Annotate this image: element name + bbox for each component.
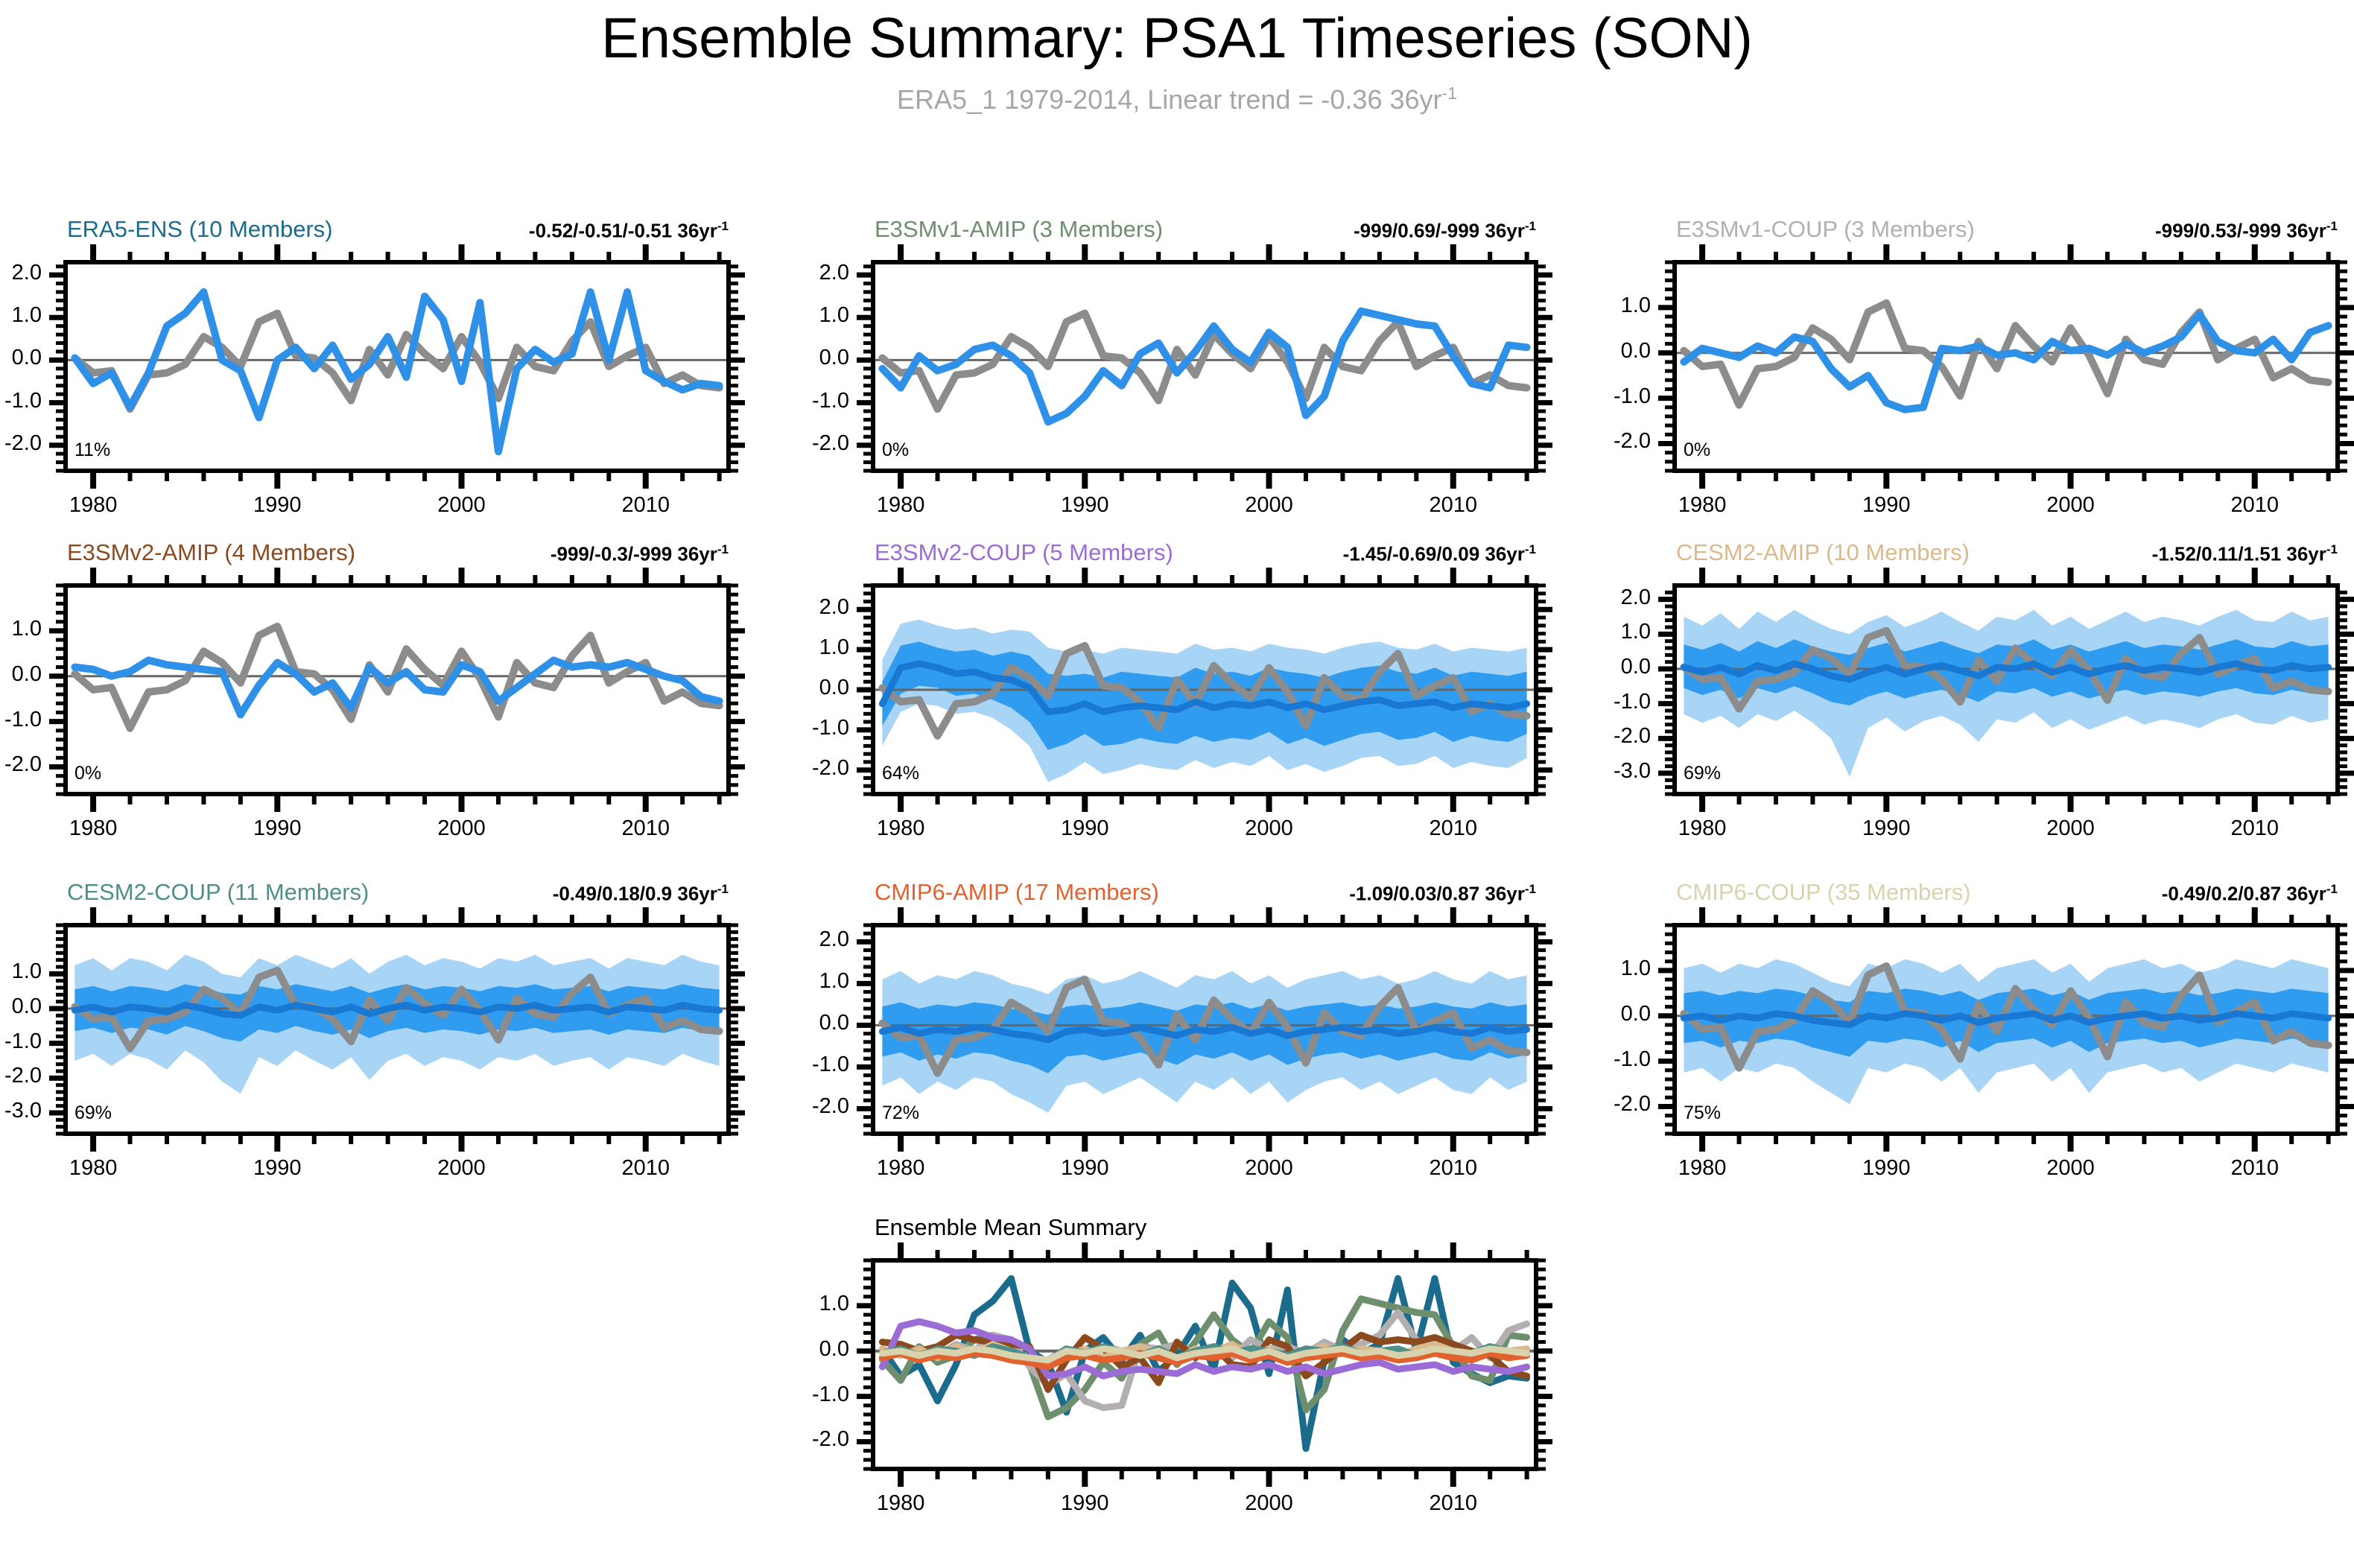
x-axis-label: 2000 [410,493,514,518]
plot-frame [873,1260,1536,1469]
panel-title-cesm2-coup: CESM2-COUP (11 Members) [67,879,369,906]
trend-value: -0.49/0.2/0.87 36yr [2162,883,2326,905]
plot-frame [66,262,729,471]
percent-annotation-cesm2-coup: 69% [74,1102,112,1124]
panel-trend-cmip6-amip: -1.09/0.03/0.87 36yr-1 [1119,882,1536,906]
y-axis-label: 2.0 [0,261,42,285]
plot-svg-cmip6-coup [0,0,2354,1568]
y-axis-label: -3.0 [0,1099,42,1123]
y-axis-label: 1.0 [754,303,849,328]
series-group-cesm2-coup [66,955,729,1094]
trend-superscript: -1 [1525,219,1536,233]
plot-svg-e3smv1-amip [0,0,2354,1568]
y-axis-label: -2.0 [1555,429,1651,454]
y-axis-label: -1.0 [1555,690,1651,714]
summary-line-e3smv1-amip [882,1299,1526,1417]
x-axis-label: 2000 [2019,493,2123,518]
ensemble-mean-line [74,1005,719,1015]
y-axis-label: 0.0 [754,1011,849,1035]
plot-frame [66,585,729,794]
y-axis-label: -2.0 [754,431,849,456]
y-axis-label: 0.0 [1555,655,1651,679]
y-axis-label: -1.0 [1555,1047,1651,1072]
x-axis-label: 1990 [1032,1156,1137,1181]
y-axis-label: 2.0 [754,927,849,952]
series-group-summary [873,1278,1536,1448]
x-axis-label: 2010 [1401,493,1506,518]
y-axis-label: 1.0 [0,959,42,984]
panel-era5-ens: ERA5-ENS (10 Members)-0.52/-0.51/-0.51 3… [0,0,2354,1568]
plot-frame [873,262,1536,471]
obs-line [74,626,719,729]
x-axis-label: 1990 [1834,493,1938,518]
y-axis-label: 1.0 [754,969,849,994]
x-axis-label: 1990 [1032,493,1137,518]
y-axis-label: -2.0 [754,1094,849,1119]
x-axis-label: 1980 [41,816,145,841]
y-axis-label: 1.0 [0,617,42,641]
panel-title-e3smv2-coup: E3SMv2-COUP (5 Members) [875,539,1173,566]
y-axis-label: 0.0 [754,1337,849,1362]
x-axis-label: 2010 [594,493,698,518]
obs-line [1684,631,2328,709]
percent-annotation-cmip6-amip: 72% [882,1102,919,1124]
y-axis-label: 2.0 [754,595,849,620]
summary-line-era5-ens [882,1278,1526,1448]
panel-e3smv2-coup: E3SMv2-COUP (5 Members)-1.45/-0.69/0.09 … [0,0,2354,1568]
panel-trend-e3smv1-amip: -999/0.69/-999 36yr-1 [1119,219,1536,243]
summary-line-cesm2-amip [882,1345,1526,1365]
y-axis-label: 0.0 [754,676,849,700]
y-axis-label: 0.0 [754,346,849,370]
y-axis-label: 0.0 [0,662,42,687]
series-group-e3smv2-amip [66,626,729,729]
x-axis-label: 2010 [594,1156,698,1181]
trend-superscript: -1 [717,219,729,233]
plot-frame [1675,262,2338,471]
percent-annotation-e3smv1-coup: 0% [1684,439,1710,461]
y-axis-label: -2.0 [1555,724,1651,749]
panel-title-e3smv1-amip: E3SMv1-AMIP (3 Members) [875,216,1163,243]
plot-svg-e3smv2-amip [0,0,2354,1568]
x-axis-label: 1990 [225,1156,329,1181]
x-axis-label: 2000 [410,816,514,841]
percent-annotation-cesm2-amip: 69% [1684,763,1721,784]
panel-title-era5-ens: ERA5-ENS (10 Members) [67,216,333,243]
panel-title-e3smv2-amip: E3SMv2-AMIP (4 Members) [67,539,355,566]
figure-root: Ensemble Summary: PSA1 Timeseries (SON) … [0,0,2354,1568]
y-axis-label: -1.0 [0,708,42,732]
panel-cmip6-amip: CMIP6-AMIP (17 Members)-1.09/0.03/0.87 3… [0,0,2354,1568]
percent-annotation-e3smv2-coup: 64% [882,763,919,784]
panel-ensemble-mean-summary: Ensemble Mean Summary1.00.0-1.0-2.019801… [0,0,2354,1568]
panel-title-cesm2-amip: CESM2-AMIP (10 Members) [1676,539,1970,566]
panel-cesm2-coup: CESM2-COUP (11 Members)-0.49/0.18/0.9 36… [0,0,2354,1568]
trend-superscript: -1 [2326,542,2338,556]
y-axis-label: 0.0 [1555,339,1651,364]
y-axis-label: -2.0 [1555,1092,1651,1117]
plot-svg-era5-ens [0,0,2354,1568]
x-axis-label: 1990 [225,816,329,841]
x-axis-label: 2010 [1401,816,1506,841]
series-group-cesm2-amip [1675,610,2338,777]
y-axis-label: 1.0 [754,635,849,660]
x-axis-label: 1990 [1834,1156,1938,1181]
plot-frame [873,925,1536,1134]
obs-line [1684,303,2328,405]
percent-annotation-e3smv1-amip: 0% [882,439,909,461]
y-axis-label: 0.0 [0,994,42,1019]
x-axis-label: 2000 [1217,1491,1322,1516]
x-axis-label: 1990 [1834,816,1938,841]
plot-svg-e3smv2-coup [0,0,2354,1568]
series-group-cmip6-coup [1675,959,2338,1105]
summary-line-e3smv2-amip [882,1335,1526,1389]
panel-trend-e3smv2-amip: -999/-0.3/-999 36yr-1 [311,542,729,566]
ensemble-mean-line [882,664,1526,712]
trend-superscript: -1 [1525,542,1536,556]
x-axis-label: 1980 [41,1156,145,1181]
y-axis-label: 1.0 [1555,956,1651,981]
figure-subtitle: ERA5_1 1979-2014, Linear trend = -0.36 3… [0,83,2354,115]
y-axis-label: -1.0 [754,1053,849,1077]
panel-cesm2-amip: CESM2-AMIP (10 Members)-1.52/0.11/1.51 3… [0,0,2354,1568]
trend-value: -1.52/0.11/1.51 36yr [2152,543,2326,565]
trend-value: -999/0.53/-999 36yr [2155,220,2326,242]
obs-line [74,971,719,1049]
subtitle-superscript: -1 [1442,83,1457,103]
summary-line-e3smv1-coup [882,1313,1526,1408]
trend-superscript: -1 [2326,219,2338,233]
percent-annotation-e3smv2-amip: 0% [74,763,101,784]
trend-superscript: -1 [1525,882,1536,896]
y-axis-label: -1.0 [1555,384,1651,409]
summary-line-cmip6-amip [882,1353,1526,1367]
x-axis-label: 2000 [1217,493,1322,518]
panel-e3smv1-amip: E3SMv1-AMIP (3 Members)-999/0.69/-999 36… [0,0,2354,1568]
y-axis-label: 0.0 [0,346,42,370]
obs-line [882,314,1526,409]
series-group-era5-ens [66,292,729,451]
y-axis-label: -2.0 [754,1427,849,1452]
trend-superscript: -1 [2326,882,2338,896]
y-axis-label: 2.0 [1555,585,1651,610]
y-axis-label: -2.0 [0,752,42,777]
obs-line [882,646,1526,736]
y-axis-label: -1.0 [754,389,849,413]
y-axis-label: 1.0 [754,1292,849,1316]
obs-line [74,314,719,409]
y-axis-label: -2.0 [0,1064,42,1088]
x-axis-label: 2010 [1401,1491,1506,1516]
trend-value: -999/-0.3/-999 36yr [551,543,717,565]
series-group-e3smv2-coup [873,620,1536,782]
x-axis-label: 1990 [1032,1491,1137,1516]
ensemble-mean-line [1684,1014,2328,1025]
x-axis-label: 2000 [1217,1156,1322,1181]
panel-title-cmip6-coup: CMIP6-COUP (35 Members) [1676,879,1971,906]
x-axis-label: 1980 [848,493,953,518]
plot-svg-cmip6-amip [0,0,2354,1568]
y-axis-label: -1.0 [0,1029,42,1054]
plot-frame [1675,585,2338,794]
series-group-e3smv1-amip [873,311,1536,422]
y-axis-label: 2.0 [754,261,849,285]
x-axis-label: 2010 [594,816,698,841]
summary-line-cesm2-coup [882,1347,1526,1360]
x-axis-label: 1990 [1032,816,1137,841]
x-axis-label: 2010 [1401,1156,1506,1181]
x-axis-label: 2000 [1217,816,1322,841]
x-axis-label: 1990 [225,493,329,518]
panel-trend-e3smv1-coup: -999/0.53/-999 36yr-1 [1920,219,2338,243]
x-axis-label: 1980 [848,1156,953,1181]
obs-line [1684,966,2328,1068]
panel-trend-cmip6-coup: -0.49/0.2/0.87 36yr-1 [1920,882,2338,906]
ensemble-mean-line [74,292,719,451]
x-axis-label: 1980 [1650,493,1754,518]
y-axis-label: -3.0 [1555,759,1651,784]
x-axis-label: 2000 [2019,1156,2123,1181]
ensemble-mean-line [1684,664,2328,679]
x-axis-label: 1980 [848,1491,953,1516]
percent-annotation-era5-ens: 11% [74,439,110,461]
x-axis-label: 1980 [1650,816,1754,841]
plot-svg-e3smv1-coup [0,0,2354,1568]
panel-trend-era5-ens: -0.52/-0.51/-0.51 36yr-1 [311,219,729,243]
panel-title-cmip6-amip: CMIP6-AMIP (17 Members) [875,879,1159,906]
y-axis-label: 1.0 [1555,293,1651,318]
y-axis-label: 0.0 [1555,1002,1651,1026]
plot-frame [66,925,729,1134]
ensemble-mean-line [1684,314,2328,410]
figure-title: Ensemble Summary: PSA1 Timeseries (SON) [0,6,2354,71]
y-axis-label: -1.0 [754,716,849,740]
trend-value: -1.45/-0.69/0.09 36yr [1343,543,1525,565]
series-group-e3smv1-coup [1675,303,2338,410]
subtitle-text: ERA5_1 1979-2014, Linear trend = -0.36 3… [897,84,1442,115]
panel-trend-e3smv2-coup: -1.45/-0.69/0.09 36yr-1 [1119,542,1536,566]
y-axis-label: -2.0 [0,431,42,456]
trend-value: -999/0.69/-999 36yr [1354,220,1525,242]
x-axis-label: 2000 [2019,816,2123,841]
plot-frame [873,585,1536,794]
trend-superscript: -1 [717,542,729,556]
x-axis-label: 2010 [2203,816,2307,841]
y-axis-label: 1.0 [0,303,42,328]
x-axis-label: 2010 [2203,493,2307,518]
trend-value: -1.09/0.03/0.87 36yr [1349,883,1525,905]
trend-value: -0.52/-0.51/-0.51 36yr [529,220,717,242]
panel-e3smv2-amip: E3SMv2-AMIP (4 Members)-999/-0.3/-999 36… [0,0,2354,1568]
panel-cmip6-coup: CMIP6-COUP (35 Members)-0.49/0.2/0.87 36… [0,0,2354,1568]
ensemble-mean-line [74,660,719,714]
y-axis-label: 1.0 [1555,620,1651,644]
x-axis-label: 1980 [848,816,953,841]
x-axis-label: 1980 [41,493,145,518]
plot-svg-cesm2-amip [0,0,2354,1568]
obs-line [882,980,1526,1073]
y-axis-label: -2.0 [754,756,849,781]
panel-title-e3smv1-coup: E3SMv1-COUP (3 Members) [1676,216,1975,243]
y-axis-label: -1.0 [754,1383,849,1407]
plot-svg-cesm2-coup [0,0,2354,1568]
panel-e3smv1-coup: E3SMv1-COUP (3 Members)-999/0.53/-999 36… [0,0,2354,1568]
y-axis-label: -1.0 [0,389,42,413]
x-axis-label: 1980 [1650,1156,1754,1181]
summary-line-e3smv2-coup [882,1321,1526,1376]
panel-title-ensemble-mean-summary: Ensemble Mean Summary [875,1214,1146,1241]
panel-trend-cesm2-amip: -1.52/0.11/1.51 36yr-1 [1920,542,2338,566]
trend-value: -0.49/0.18/0.9 36yr [553,883,717,905]
percent-annotation-cmip6-coup: 75% [1684,1102,1721,1124]
series-group-cmip6-amip [873,971,1536,1113]
ensemble-mean-line [882,311,1526,422]
summary-line-cmip6-coup [882,1349,1526,1360]
ensemble-mean-line [882,1027,1526,1040]
panel-trend-cesm2-coup: -0.49/0.18/0.9 36yr-1 [311,882,729,906]
trend-superscript: -1 [717,882,729,896]
plot-frame [1675,925,2338,1134]
x-axis-label: 2010 [2203,1156,2307,1181]
plot-svg-ensemble-mean-summary [0,0,2354,1568]
x-axis-label: 2000 [410,1156,514,1181]
